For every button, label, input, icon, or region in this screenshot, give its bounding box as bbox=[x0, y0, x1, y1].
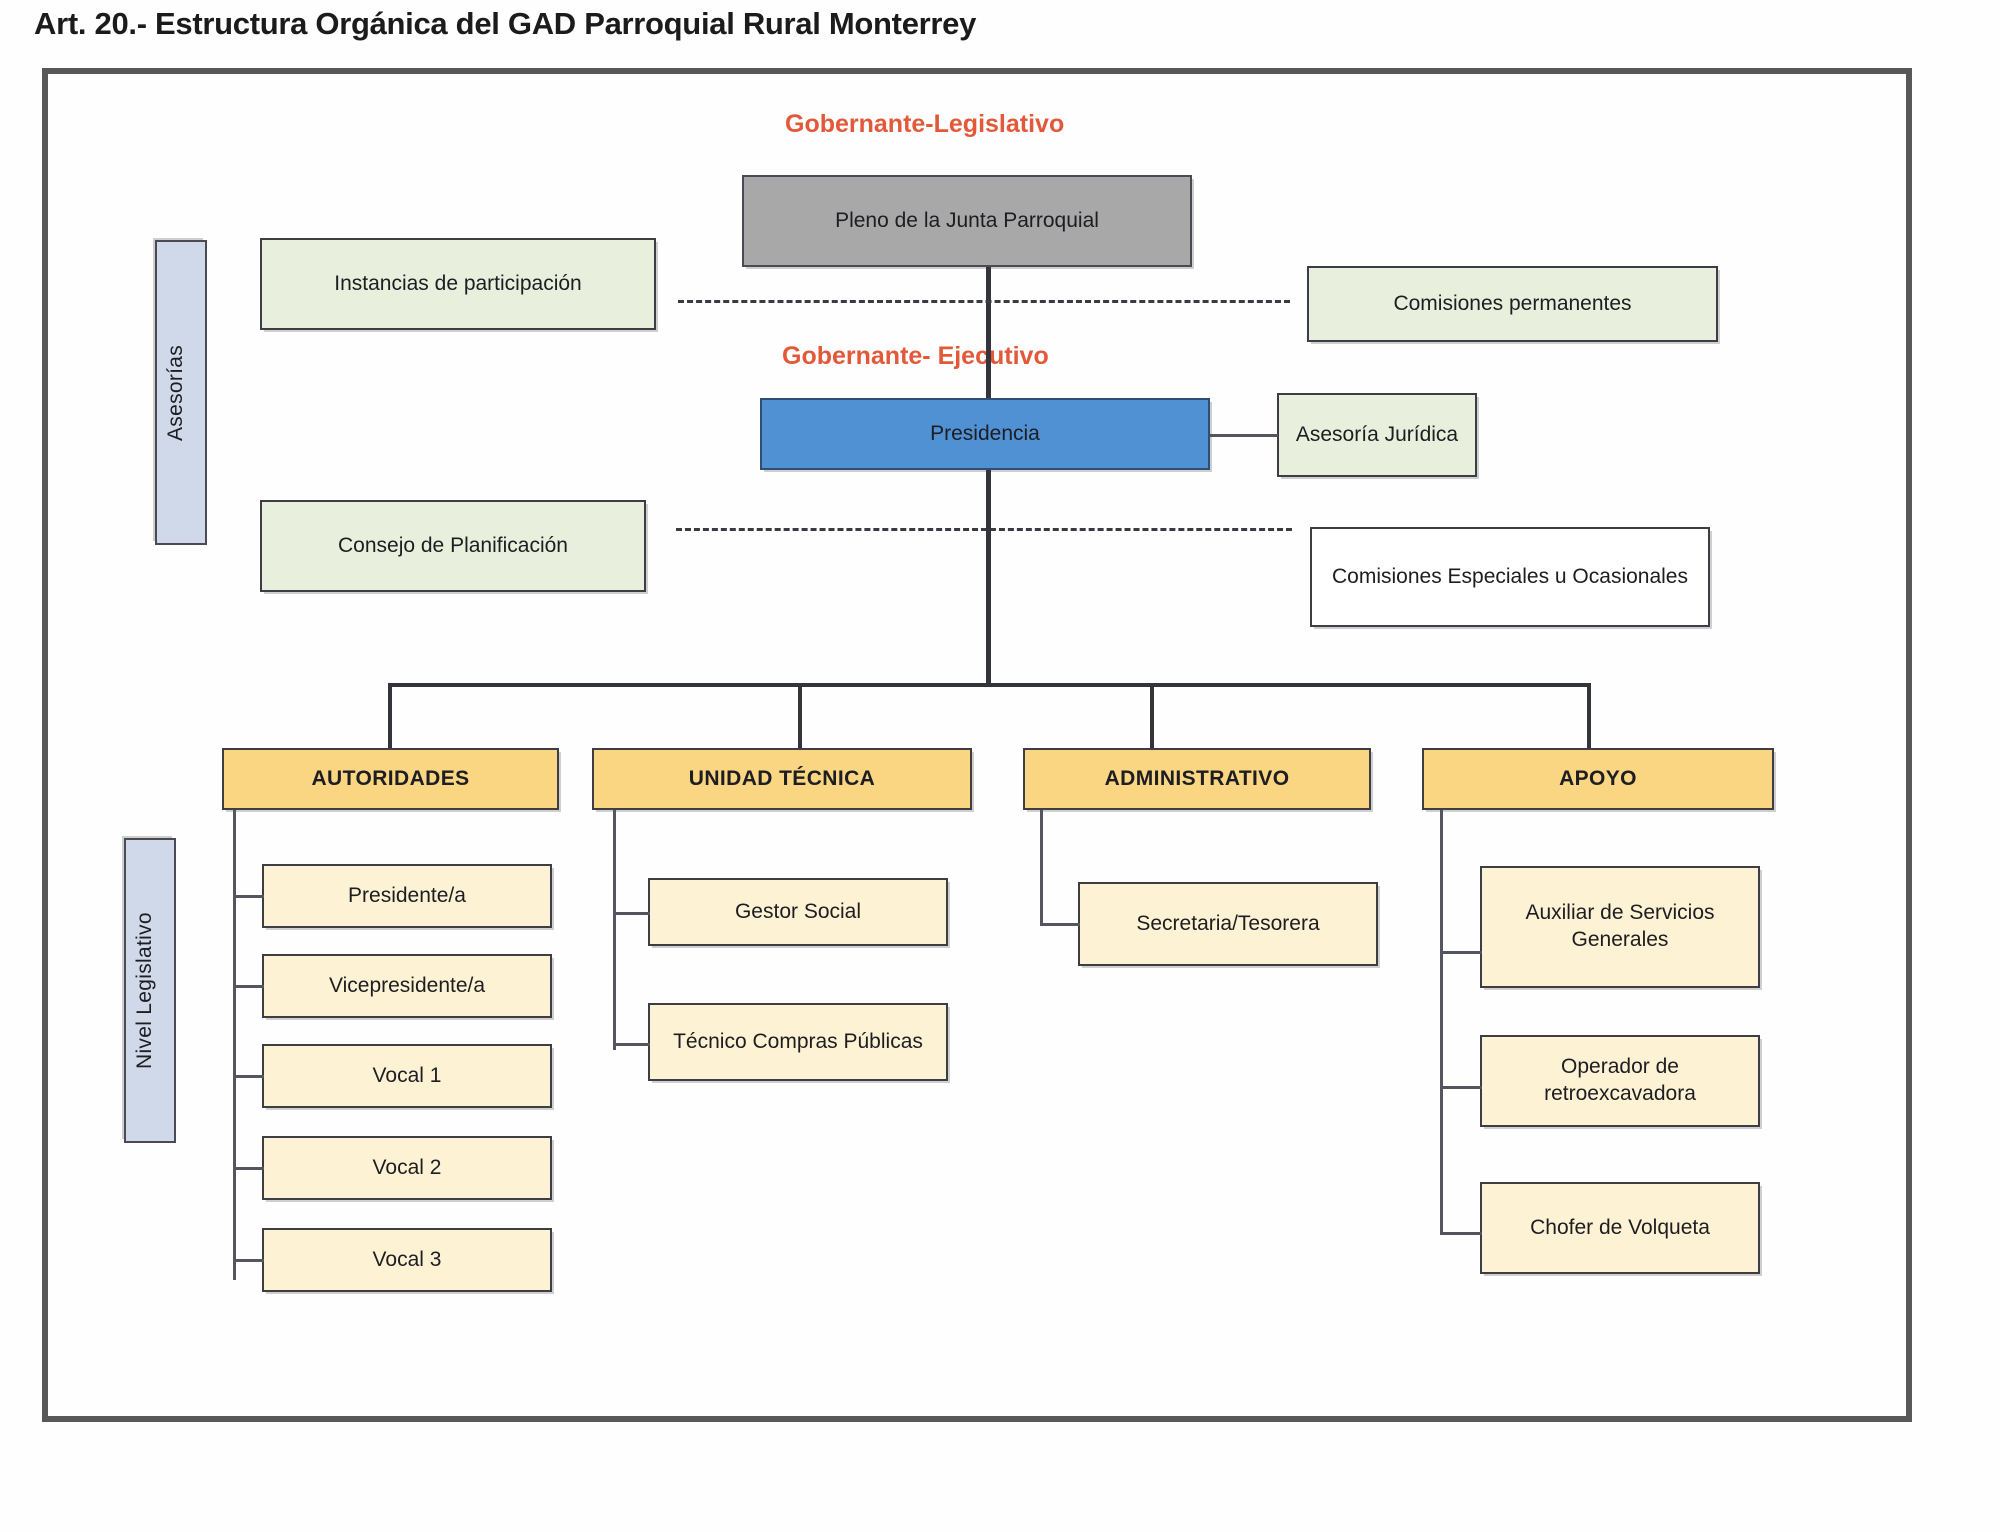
branch-child-vicepresidente-label: Vicepresidente/a bbox=[270, 973, 544, 1000]
connector-autoridades-child-1 bbox=[233, 895, 264, 898]
box-comisiones-permanentes[interactable]: Comisiones permanentes bbox=[1307, 266, 1718, 342]
branch-child-vocal-3-label: Vocal 3 bbox=[270, 1247, 544, 1274]
connector-spine-apoyo bbox=[1440, 810, 1443, 1232]
branch-child-chofer-volqueta[interactable]: Chofer de Volqueta bbox=[1480, 1182, 1760, 1274]
branch-child-presidente-label: Presidente/a bbox=[270, 883, 544, 910]
branch-child-presidente[interactable]: Presidente/a bbox=[262, 864, 552, 928]
connector-apoyo-child-2 bbox=[1440, 1086, 1482, 1089]
branch-child-tecnico-compras[interactable]: Técnico Compras Públicas bbox=[648, 1003, 948, 1081]
branch-header-apoyo[interactable]: APOYO bbox=[1422, 748, 1774, 810]
branch-child-vocal-2-label: Vocal 2 bbox=[270, 1155, 544, 1182]
divider-dashed-executive bbox=[676, 528, 1292, 531]
connector-unidad-tecnica-child-1 bbox=[613, 912, 650, 915]
connector-pleno-to-presidencia bbox=[986, 267, 991, 398]
box-consejo-planificacion[interactable]: Consejo de Planificación bbox=[260, 500, 646, 592]
branch-child-auxiliar-servicios-label: Auxiliar de Servicios Generales bbox=[1488, 900, 1752, 954]
connector-bus-drop-apoyo bbox=[1587, 683, 1591, 748]
connector-bus-drop-unidad-tecnica bbox=[798, 683, 802, 748]
connector-spine-administrativo bbox=[1040, 810, 1043, 925]
branch-header-apoyo-label: APOYO bbox=[1430, 766, 1766, 793]
branch-child-secretaria-tesorera-label: Secretaria/Tesorera bbox=[1086, 911, 1370, 938]
connector-branch-bus bbox=[388, 683, 1591, 687]
branch-child-gestor-social-label: Gestor Social bbox=[656, 899, 940, 926]
branch-header-administrativo-label: ADMINISTRATIVO bbox=[1031, 766, 1363, 793]
box-presidencia[interactable]: Presidencia bbox=[760, 398, 1210, 470]
connector-apoyo-child-1 bbox=[1440, 951, 1482, 954]
side-label-nivel-legislativo-text: Nivel Legislativo bbox=[132, 912, 168, 1069]
box-comisiones-especiales-label: Comisiones Especiales u Ocasionales bbox=[1318, 564, 1702, 591]
connector-presidencia-trunk bbox=[986, 470, 991, 685]
box-instancias-participacion[interactable]: Instancias de participación bbox=[260, 238, 656, 330]
divider-dashed-legislative bbox=[678, 300, 1290, 303]
branch-child-vocal-2[interactable]: Vocal 2 bbox=[262, 1136, 552, 1200]
connector-administrativo-child-1 bbox=[1040, 923, 1080, 926]
box-asesoria-juridica-label: Asesoría Jurídica bbox=[1285, 422, 1469, 449]
page-title: Art. 20.- Estructura Orgánica del GAD Pa… bbox=[34, 6, 976, 42]
branch-child-vocal-3[interactable]: Vocal 3 bbox=[262, 1228, 552, 1292]
caption-gobernante-legislativo: Gobernante-Legislativo bbox=[785, 110, 1064, 139]
branch-child-operador-retroexcavadora[interactable]: Operador de retroexcavadora bbox=[1480, 1035, 1760, 1127]
branch-child-chofer-volqueta-label: Chofer de Volqueta bbox=[1488, 1215, 1752, 1242]
connector-unidad-tecnica-child-2 bbox=[613, 1043, 650, 1046]
branch-child-vicepresidente[interactable]: Vicepresidente/a bbox=[262, 954, 552, 1018]
box-comisiones-especiales[interactable]: Comisiones Especiales u Ocasionales bbox=[1310, 527, 1710, 627]
branch-child-vocal-1[interactable]: Vocal 1 bbox=[262, 1044, 552, 1108]
connector-autoridades-child-5 bbox=[233, 1259, 264, 1262]
connector-spine-unidad-tecnica bbox=[613, 810, 616, 1050]
branch-child-auxiliar-servicios[interactable]: Auxiliar de Servicios Generales bbox=[1480, 866, 1760, 988]
branch-child-gestor-social[interactable]: Gestor Social bbox=[648, 878, 948, 946]
box-asesoria-juridica[interactable]: Asesoría Jurídica bbox=[1277, 393, 1477, 477]
branch-child-secretaria-tesorera[interactable]: Secretaria/Tesorera bbox=[1078, 882, 1378, 966]
branch-header-autoridades-label: AUTORIDADES bbox=[230, 766, 551, 793]
side-label-asesorias: Asesorías bbox=[155, 240, 207, 545]
branch-header-administrativo[interactable]: ADMINISTRATIVO bbox=[1023, 748, 1371, 810]
branch-header-unidad-tecnica[interactable]: UNIDAD TÉCNICA bbox=[592, 748, 972, 810]
box-instancias-participacion-label: Instancias de participación bbox=[268, 271, 648, 298]
branch-header-unidad-tecnica-label: UNIDAD TÉCNICA bbox=[600, 766, 964, 793]
box-pleno-junta-parroquial[interactable]: Pleno de la Junta Parroquial bbox=[742, 175, 1192, 267]
branch-header-autoridades[interactable]: AUTORIDADES bbox=[222, 748, 559, 810]
connector-autoridades-child-2 bbox=[233, 985, 264, 988]
branch-child-vocal-1-label: Vocal 1 bbox=[270, 1063, 544, 1090]
box-consejo-planificacion-label: Consejo de Planificación bbox=[268, 533, 638, 560]
connector-autoridades-child-3 bbox=[233, 1075, 264, 1078]
caption-gobernante-ejecutivo: Gobernante- Ejecutivo bbox=[782, 342, 1049, 371]
box-comisiones-permanentes-label: Comisiones permanentes bbox=[1315, 291, 1710, 318]
box-pleno-junta-parroquial-label: Pleno de la Junta Parroquial bbox=[750, 208, 1184, 235]
connector-bus-drop-administrativo bbox=[1150, 683, 1154, 748]
branch-child-tecnico-compras-label: Técnico Compras Públicas bbox=[656, 1029, 940, 1056]
connector-presidencia-asesoria bbox=[1210, 434, 1278, 437]
connector-bus-drop-autoridades bbox=[388, 683, 392, 748]
org-chart-page: Art. 20.- Estructura Orgánica del GAD Pa… bbox=[0, 0, 2000, 1532]
box-presidencia-label: Presidencia bbox=[768, 421, 1202, 448]
side-label-asesorias-text: Asesorías bbox=[163, 344, 199, 440]
connector-spine-autoridades bbox=[233, 810, 236, 1280]
connector-apoyo-child-3 bbox=[1440, 1232, 1482, 1235]
connector-autoridades-child-4 bbox=[233, 1167, 264, 1170]
branch-child-operador-retroexcavadora-label: Operador de retroexcavadora bbox=[1488, 1054, 1752, 1108]
side-label-nivel-legislativo: Nivel Legislativo bbox=[124, 838, 176, 1143]
